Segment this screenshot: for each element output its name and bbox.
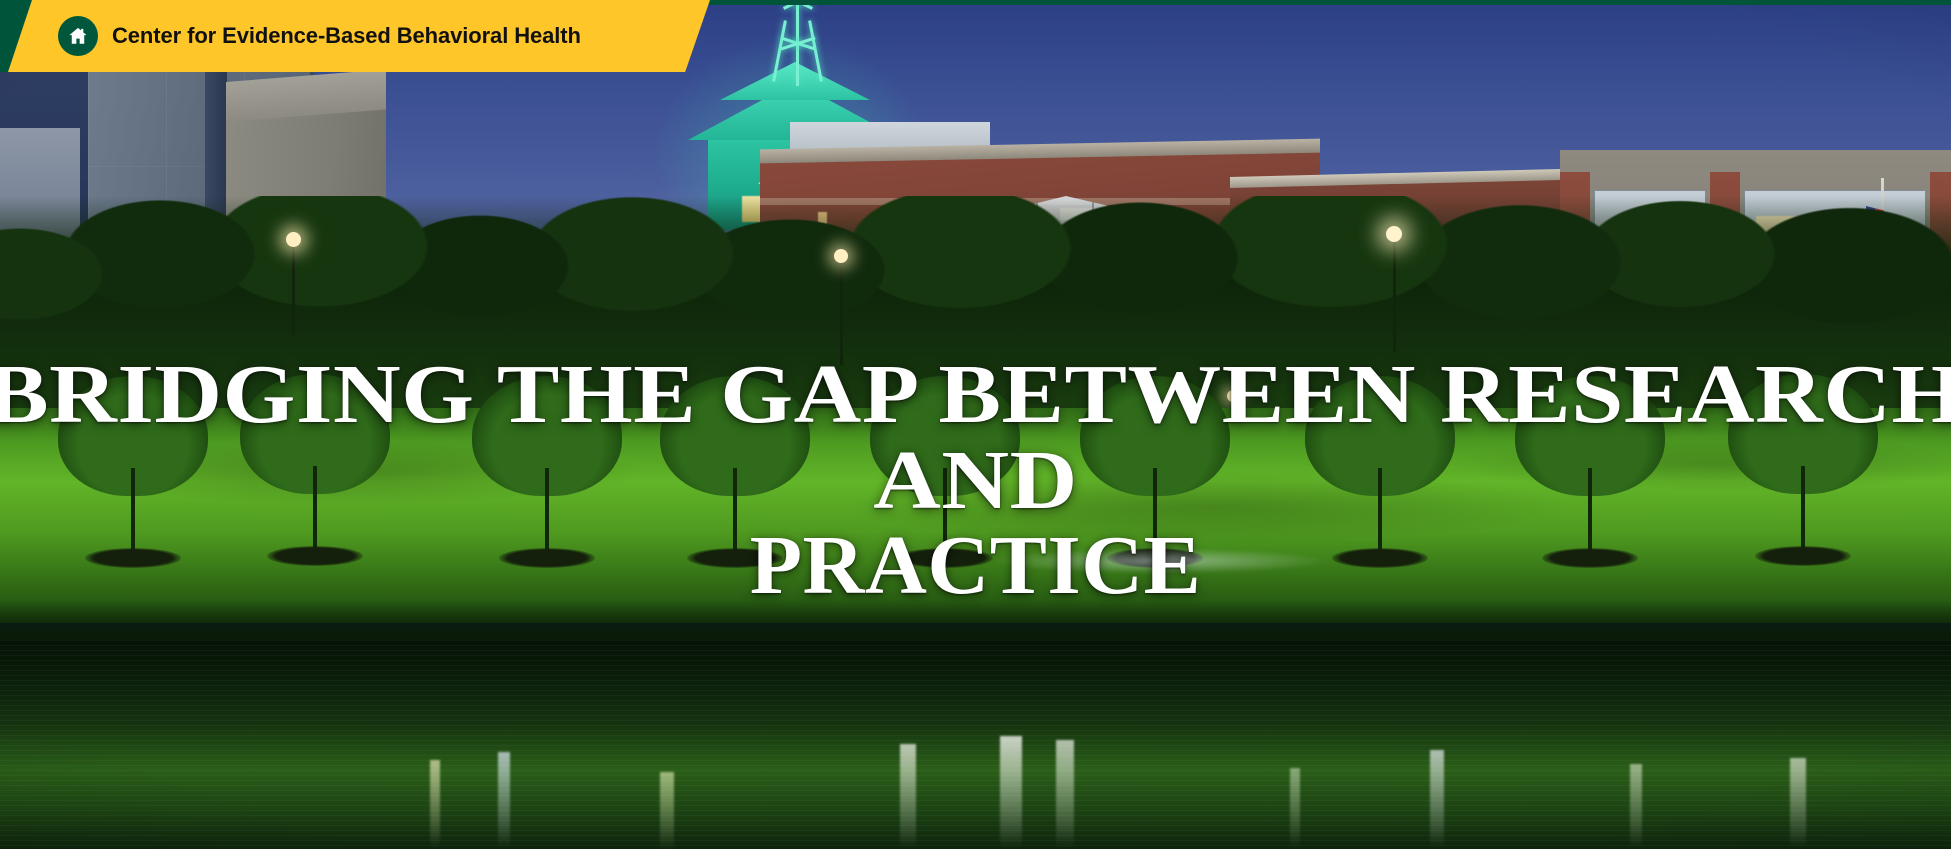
water-reflection (430, 760, 440, 848)
home-icon[interactable] (58, 16, 98, 56)
water-reflection (1056, 740, 1074, 848)
lamp-post (292, 238, 295, 334)
hero-headline-line-1: BRIDGING THE GAP BETWEEN RESEARCH AND (0, 352, 1951, 523)
hero-headline: BRIDGING THE GAP BETWEEN RESEARCH AND PR… (0, 352, 1951, 609)
hero-headline-line-2: PRACTICE (0, 523, 1951, 609)
lamp-light (286, 232, 301, 247)
site-brand-banner[interactable]: Center for Evidence-Based Behavioral Hea… (0, 0, 710, 72)
water-reflection (1290, 768, 1300, 848)
site-title: Center for Evidence-Based Behavioral Hea… (112, 23, 581, 49)
hero-page: Center for Evidence-Based Behavioral Hea… (0, 0, 1951, 849)
water-reflection (900, 744, 916, 848)
brand-inner: Center for Evidence-Based Behavioral Hea… (0, 0, 581, 72)
water-reflection (1630, 764, 1642, 848)
water-reflection (1000, 736, 1022, 848)
water-reflection (1790, 758, 1806, 848)
cupola-spire (776, 0, 820, 86)
water-reflection (1430, 750, 1444, 848)
water-reflection (498, 752, 510, 848)
lamp-light (1386, 226, 1402, 242)
water-reflection (660, 772, 674, 849)
reflecting-pond (0, 640, 1951, 849)
cornice (1560, 150, 1951, 172)
lamp-post (1393, 232, 1396, 352)
lamp-light (834, 249, 848, 263)
